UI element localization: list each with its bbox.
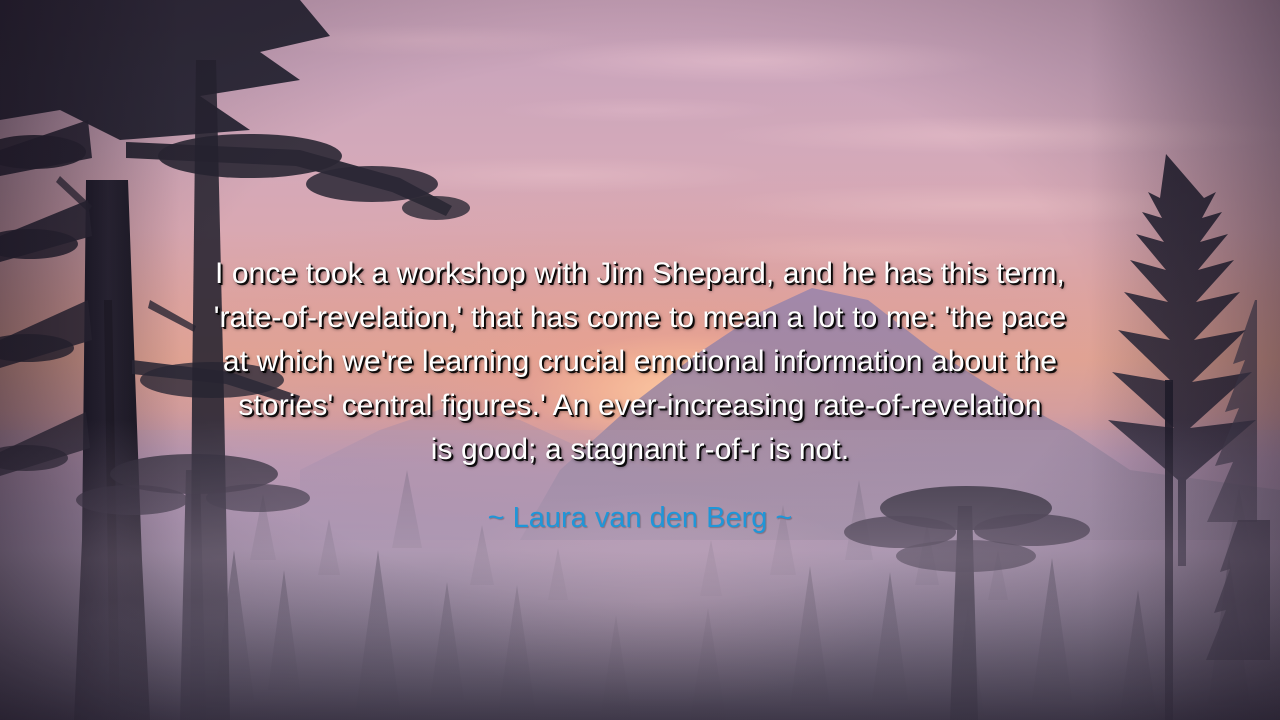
quote-line-3: at which we're learning crucial emotiona… <box>110 340 1170 384</box>
quote-line-5: is good; a stagnant r-of-r is not. <box>110 428 1170 472</box>
quote-line-1: I once took a workshop with Jim Shepard,… <box>110 252 1170 296</box>
quote-attribution: ~ Laura van den Berg ~ <box>0 500 1280 536</box>
quote-text-block: I once took a workshop with Jim Shepard,… <box>0 252 1280 472</box>
quote-line-2: 'rate-of-revelation,' that has come to m… <box>110 296 1170 340</box>
quote-line-4: stories' central figures.' An ever-incre… <box>110 384 1170 428</box>
quote-image-canvas: I once took a workshop with Jim Shepard,… <box>0 0 1280 720</box>
